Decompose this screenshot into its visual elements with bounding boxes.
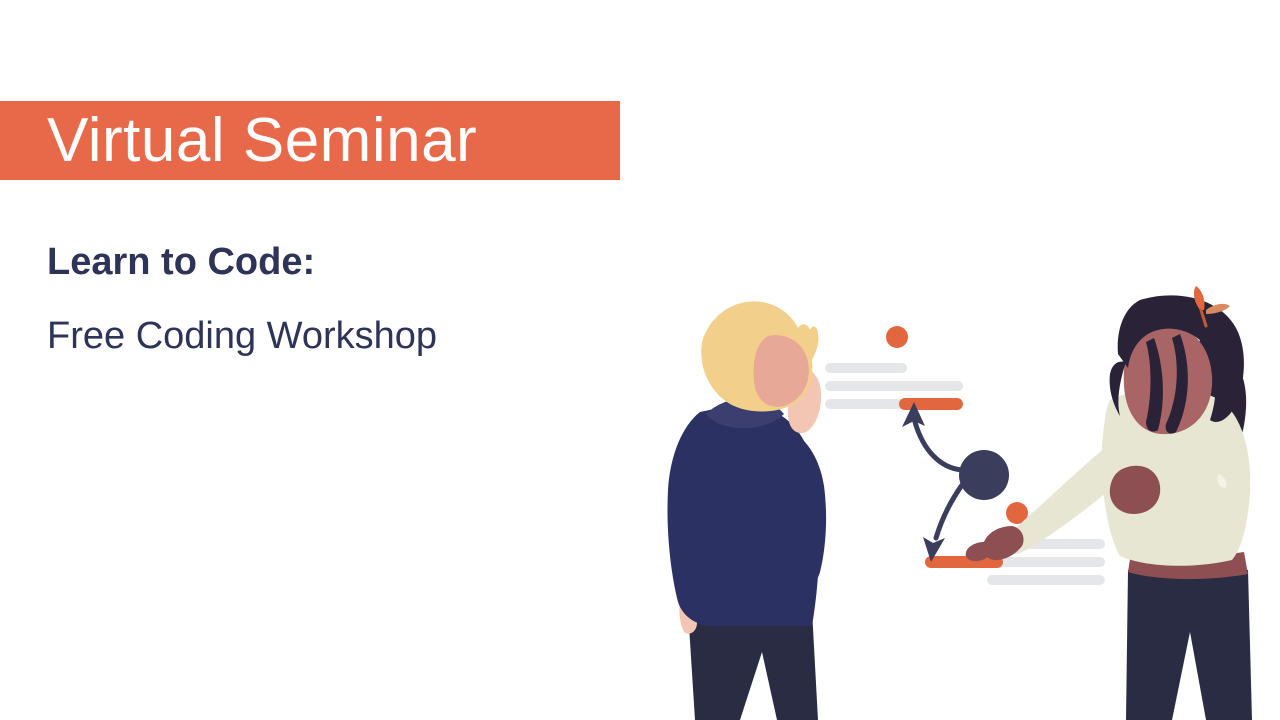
upper-panel-bar-2 <box>825 381 963 391</box>
person-right-reaching <box>966 286 1252 720</box>
left-figure-trousers <box>688 610 818 720</box>
upper-panel-bar-1 <box>825 363 907 373</box>
page-headline: Learn to Code: <box>47 243 315 283</box>
page-subheadline: Free Coding Workshop <box>47 317 437 357</box>
arrow-up-left-curve <box>915 422 962 470</box>
hero-illustration <box>640 280 1280 720</box>
banner-title-text: Virtual Seminar <box>47 110 477 172</box>
right-figure-forearm <box>1110 466 1160 514</box>
upper-ui-panel <box>825 326 963 410</box>
arrow-down-left-curve <box>936 485 962 538</box>
right-figure-trousers <box>1126 570 1252 720</box>
connector-node <box>959 450 1009 500</box>
slide-canvas: Virtual Seminar Learn to Code: Free Codi… <box>0 0 1280 720</box>
upper-panel-bar-3-accent <box>899 398 963 410</box>
upper-panel-dot <box>886 326 908 348</box>
lower-panel-bar-3 <box>987 575 1105 585</box>
title-banner: Virtual Seminar <box>0 101 620 180</box>
person-left-raising-hand <box>667 301 826 720</box>
